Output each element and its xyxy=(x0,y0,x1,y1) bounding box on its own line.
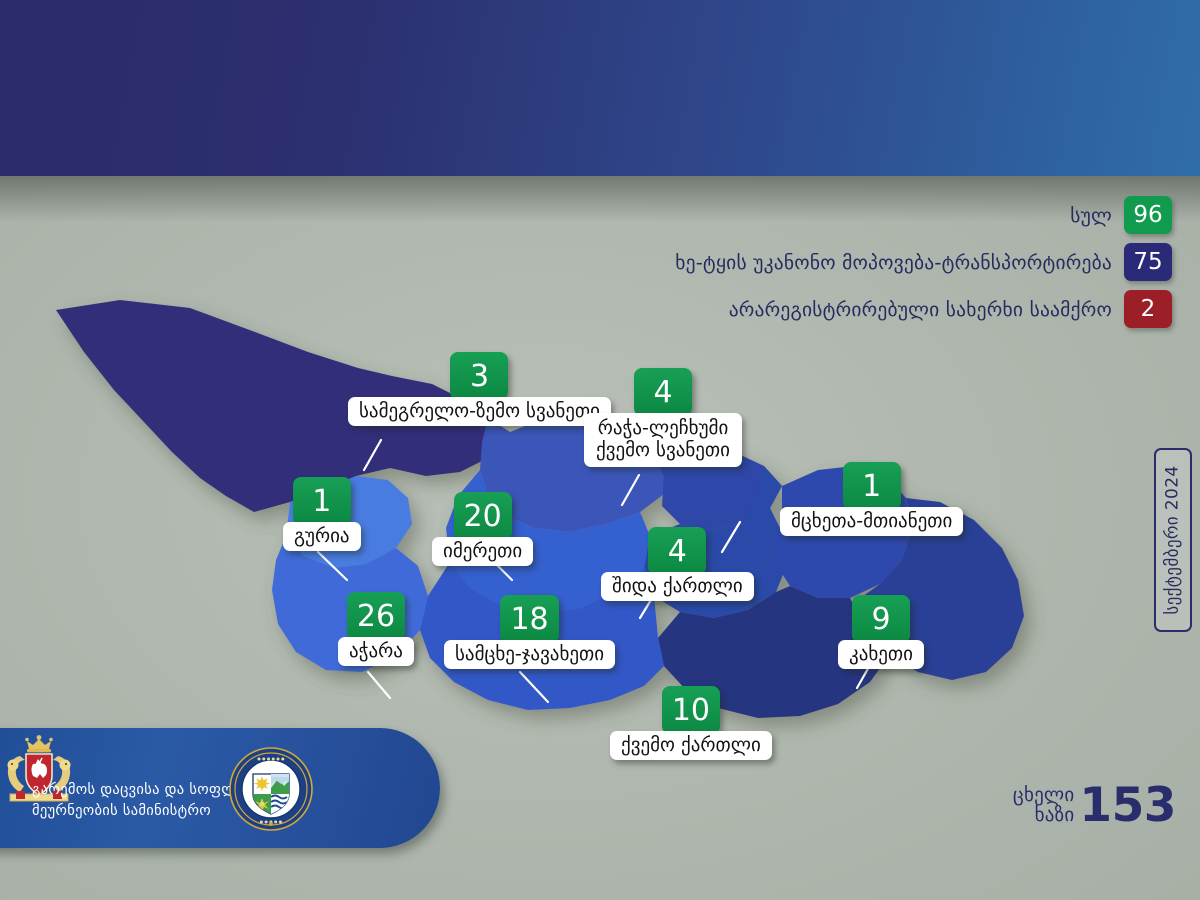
legend-label-sawmill: არარეგისტრირებული სახერხი საამქრო xyxy=(729,298,1112,321)
legend: სულ 96 ხე-ტყის უკანონო მოპოვება-ტრანსპორ… xyxy=(675,196,1172,337)
marker-label: აჭარა xyxy=(338,637,414,666)
environment-agency-seal-icon: ● ● ● ● ● ● ● ● ● ● ● xyxy=(228,746,314,836)
marker-value: 4 xyxy=(634,368,692,416)
legend-badge-logging: 75 xyxy=(1124,243,1172,281)
ministry-name: გარემოს დაცვისა და სოფლის მეურნეობის სამ… xyxy=(32,780,253,822)
hotline-number: 153 xyxy=(1079,778,1176,833)
date-card: სექტემბერი 2024 xyxy=(1154,448,1192,632)
marker-label: მცხეთა-მთიანეთი xyxy=(780,507,963,536)
legend-badge-total: 96 xyxy=(1124,196,1172,234)
marker-kvemo-kartli[interactable]: 10 ქვემო ქართლი xyxy=(610,686,772,760)
legend-row: არარეგისტრირებული სახერხი საამქრო 2 xyxy=(675,290,1172,328)
marker-value: 10 xyxy=(662,686,720,734)
legend-label-total: სულ xyxy=(1070,204,1112,227)
marker-value: 20 xyxy=(454,492,512,540)
legend-label-logging: ხე-ტყის უკანონო მოპოვება-ტრანსპორტირება xyxy=(675,251,1112,274)
poster-root: უკანონო ტყითსარგებლობის სტატისტიკა სულ 9… xyxy=(0,0,1200,900)
marker-kakheti[interactable]: 9 კახეთი xyxy=(838,595,924,669)
marker-label: რაჭა-ლეჩხუმი ქვემო სვანეთი xyxy=(584,413,742,467)
marker-value: 1 xyxy=(843,462,901,510)
marker-samegrelo[interactable]: 3 სამეგრელო-ზემო სვანეთი xyxy=(348,352,611,426)
marker-guria[interactable]: 1 გურია xyxy=(283,477,361,551)
ministry-line-1: გარემოს დაცვისა და სოფლის xyxy=(32,780,253,801)
marker-value: 26 xyxy=(347,592,405,640)
hotline-word-1: ცხელი xyxy=(1013,786,1075,806)
marker-value: 4 xyxy=(648,527,706,575)
marker-label: სამცხე-ჯავახეთი xyxy=(444,640,615,669)
footer-bar: გარემოს დაცვისა და სოფლის მეურნეობის სამ… xyxy=(0,728,440,848)
marker-label: იმერეთი xyxy=(432,537,533,566)
hotline-label: ცხელი ხაზი xyxy=(1013,786,1075,826)
hotline-word-2: ხაზი xyxy=(1013,806,1075,826)
marker-label: შიდა ქართლი xyxy=(601,572,754,601)
hotline: ცხელი ხაზი 153 xyxy=(1013,778,1176,833)
marker-racha[interactable]: 4 რაჭა-ლეჩხუმი ქვემო სვანეთი xyxy=(584,368,742,467)
marker-adjara[interactable]: 26 აჭარა xyxy=(338,592,414,666)
marker-shida-kartli[interactable]: 4 შიდა ქართლი xyxy=(601,527,754,601)
date-card-label: სექტემბერი 2024 xyxy=(1163,465,1183,614)
marker-label: სამეგრელო-ზემო სვანეთი xyxy=(348,397,611,426)
marker-value: 9 xyxy=(852,595,910,643)
marker-value: 3 xyxy=(450,352,508,400)
marker-mtskheta[interactable]: 1 მცხეთა-მთიანეთი xyxy=(780,462,963,536)
legend-row: ხე-ტყის უკანონო მოპოვება-ტრანსპორტირება … xyxy=(675,243,1172,281)
legend-badge-sawmill: 2 xyxy=(1124,290,1172,328)
legend-row: სულ 96 xyxy=(675,196,1172,234)
marker-samtskhe[interactable]: 18 სამცხე-ჯავახეთი xyxy=(444,595,615,669)
marker-value: 1 xyxy=(293,477,351,525)
marker-label: გურია xyxy=(283,522,361,551)
header-banner xyxy=(0,0,1200,176)
marker-label: კახეთი xyxy=(838,640,924,669)
svg-text:● ● ● ● ● ●: ● ● ● ● ● ● xyxy=(257,756,285,761)
marker-value: 18 xyxy=(500,595,558,643)
ministry-line-2: მეურნეობის სამინისტრო xyxy=(32,801,253,822)
marker-imereti[interactable]: 20 იმერეთი xyxy=(432,492,533,566)
marker-label: ქვემო ქართლი xyxy=(610,731,772,760)
